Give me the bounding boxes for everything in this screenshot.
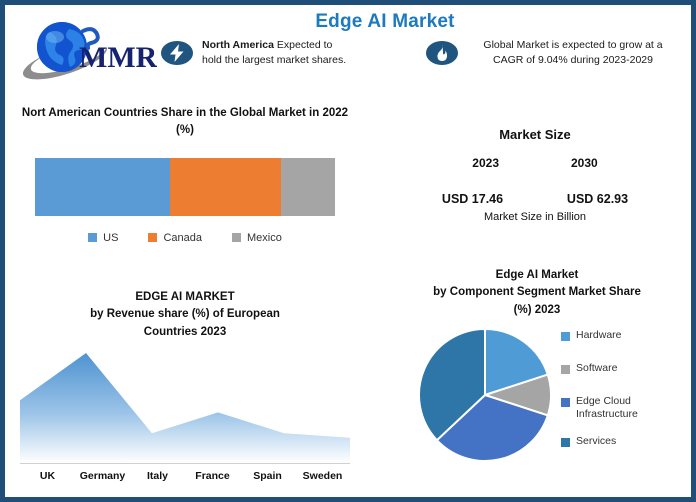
bar-segment-us[interactable] xyxy=(35,158,170,216)
market-size-year-2030: 2030 xyxy=(571,156,598,170)
pie-legend-swatch-services xyxy=(561,438,570,447)
legend-item-us[interactable]: US xyxy=(88,232,118,244)
pie-legend-item-hardware[interactable]: Hardware xyxy=(561,329,686,342)
highlight-cagr: Global Market is expected to grow at a C… xyxy=(425,38,687,71)
legend-label-canada: Canada xyxy=(163,232,202,244)
legend-item-canada[interactable]: Canada xyxy=(148,232,202,244)
header: MMR Edge AI Market North America Expecte… xyxy=(5,5,691,93)
chart-european-title-line1: EDGE AI MARKET xyxy=(13,289,357,306)
area-x-label-france: France xyxy=(185,470,240,482)
market-size-panel: Market Size 2023 2030 USD 17.46 USD 62.9… xyxy=(385,127,685,247)
bar-segment-canada[interactable] xyxy=(170,158,281,216)
pie-area: Hardware Software Edge Cloud Infrastruct… xyxy=(383,327,691,477)
market-size-year-2023: 2023 xyxy=(472,156,499,170)
market-size-footnote: Market Size in Billion xyxy=(385,211,685,223)
highlight-north-america-text: North America Expected to hold the large… xyxy=(202,38,350,68)
chart-european-title: EDGE AI MARKET by Revenue share (%) of E… xyxy=(13,289,357,341)
highlight-cagr-text: Global Market is expected to grow at a C… xyxy=(467,38,679,68)
pie-chart-svg xyxy=(417,327,553,463)
lightning-bolt-icon xyxy=(160,40,194,71)
chart-component-title-line1: Edge AI Market xyxy=(383,267,691,284)
market-size-value-2023: USD 17.46 xyxy=(425,192,520,206)
legend-label-us: US xyxy=(103,232,118,244)
chart-component-title-line3: (%) 2023 xyxy=(383,302,691,319)
pie-legend: Hardware Software Edge Cloud Infrastruct… xyxy=(561,329,686,449)
legend-swatch-us xyxy=(88,233,97,242)
chart-european-revenue-share: EDGE AI MARKET by Revenue share (%) of E… xyxy=(13,289,357,494)
area-x-label-uk: UK xyxy=(20,470,75,482)
mmr-logo: MMR xyxy=(17,15,157,87)
pie-legend-item-edge-cloud[interactable]: Edge Cloud Infrastructure xyxy=(561,395,686,421)
chart-european-title-line2: by Revenue share (%) of European xyxy=(13,306,357,323)
area-x-label-italy: Italy xyxy=(130,470,185,482)
infographic-page: MMR Edge AI Market North America Expecte… xyxy=(0,0,696,502)
page-title: Edge AI Market xyxy=(255,11,515,33)
svg-text:MMR: MMR xyxy=(79,41,157,74)
bar-segment-mexico[interactable] xyxy=(281,158,335,216)
pie-legend-swatch-software xyxy=(561,365,570,374)
market-size-years: 2023 2030 xyxy=(385,156,685,170)
highlight-north-america: North America Expected to hold the large… xyxy=(160,38,350,71)
legend-swatch-mexico xyxy=(232,233,241,242)
area-x-label-germany: Germany xyxy=(75,470,130,482)
bar-legend: US Canada Mexico xyxy=(13,232,357,244)
chart-component-title-line2: by Component Segment Market Share xyxy=(383,284,691,301)
market-size-values: USD 17.46 USD 62.93 xyxy=(385,192,685,206)
area-plot-svg xyxy=(20,353,350,463)
market-size-heading: Market Size xyxy=(385,127,685,142)
market-size-value-2030: USD 62.93 xyxy=(550,192,645,206)
chart-north-america-title: Nort American Countries Share in the Glo… xyxy=(13,105,357,140)
highlight-north-america-bold: North America xyxy=(202,39,274,51)
flame-icon xyxy=(425,40,459,71)
pie-legend-label-edge-cloud: Edge Cloud Infrastructure xyxy=(576,395,686,421)
area-x-label-spain: Spain xyxy=(240,470,295,482)
area-series-polygon xyxy=(20,353,350,463)
area-axis-line xyxy=(20,463,350,464)
area-x-axis-labels: UK Germany Italy France Spain Sweden xyxy=(20,470,350,482)
chart-component-segment-share: Edge AI Market by Component Segment Mark… xyxy=(383,267,691,499)
legend-label-mexico: Mexico xyxy=(247,232,282,244)
chart-component-title: Edge AI Market by Component Segment Mark… xyxy=(383,267,691,319)
pie-legend-swatch-hardware xyxy=(561,332,570,341)
legend-swatch-canada xyxy=(148,233,157,242)
chart-north-america-share: Nort American Countries Share in the Glo… xyxy=(13,105,357,273)
chart-european-title-line3: Countries 2023 xyxy=(13,324,357,341)
legend-item-mexico[interactable]: Mexico xyxy=(232,232,282,244)
pie-legend-item-software[interactable]: Software xyxy=(561,362,686,375)
pie-legend-item-services[interactable]: Services xyxy=(561,435,686,448)
pie-legend-label-software: Software xyxy=(576,362,617,375)
pie-legend-label-services: Services xyxy=(576,435,616,448)
pie-legend-label-hardware: Hardware xyxy=(576,329,622,342)
mmr-logo-graphic: MMR xyxy=(17,15,157,87)
area-x-label-sweden: Sweden xyxy=(295,470,350,482)
area-plot xyxy=(20,353,350,463)
pie-legend-swatch-edge-cloud xyxy=(561,398,570,407)
stacked-bar xyxy=(35,158,335,216)
